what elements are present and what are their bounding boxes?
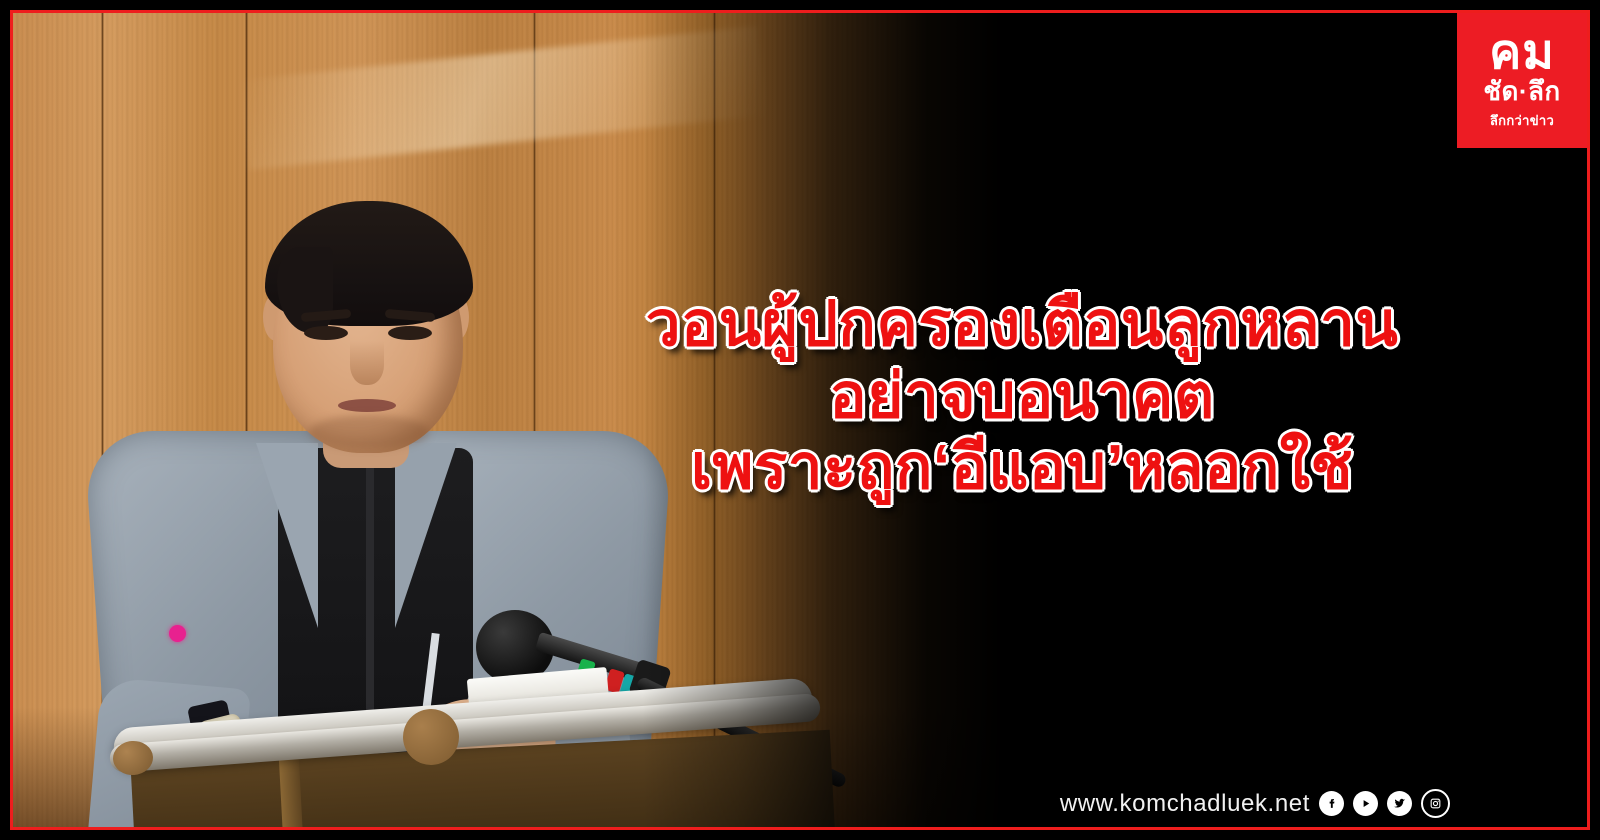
headline-line-2: อย่าจบอนาคต (522, 364, 1522, 430)
footer-bar: www.komchadluek.net (1060, 789, 1450, 818)
youtube-icon[interactable] (1353, 791, 1378, 816)
facebook-icon[interactable] (1319, 791, 1344, 816)
headline-block: วอนผู้ปกครองเตือนลูกหลาน อย่าจบอนาคต เพร… (522, 292, 1522, 501)
headline-line-1: วอนผู้ปกครองเตือนลูกหลาน (522, 292, 1522, 358)
instagram-icon[interactable] (1421, 789, 1450, 818)
headline-line-3: เพราะถูก‘อีแอบ’หลอกใช้ (522, 435, 1522, 501)
logo-sub-text: ชัด·ลึก (1483, 78, 1560, 105)
website-url[interactable]: www.komchadluek.net (1060, 790, 1310, 818)
twitter-icon[interactable] (1387, 791, 1412, 816)
logo-main-text: คม (1489, 30, 1555, 76)
news-graphic-canvas: วอนผู้ปกครองเตือนลูกหลาน อย่าจบอนาคต เพร… (0, 0, 1600, 840)
logo-tagline: ลึกกว่าข่าว (1490, 110, 1554, 131)
komchadluek-logo[interactable]: คม ชัด·ลึก ลึกกว่าข่าว (1457, 13, 1587, 148)
